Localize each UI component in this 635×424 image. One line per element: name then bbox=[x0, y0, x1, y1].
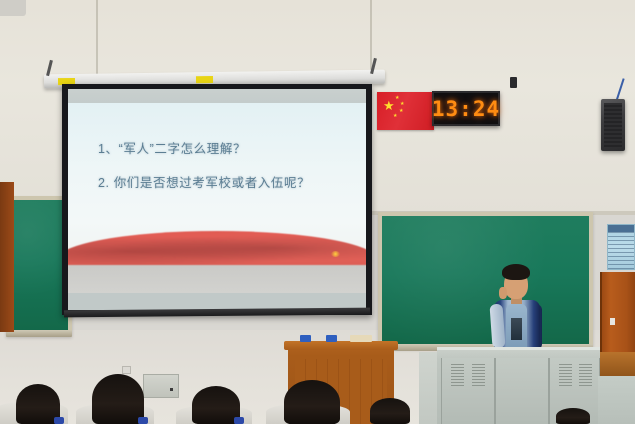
cabinet-vent bbox=[579, 364, 592, 386]
notice-board-header bbox=[608, 225, 634, 232]
wall-sensor-icon bbox=[510, 77, 517, 88]
flag-small-star: ★ bbox=[393, 114, 397, 119]
student-head bbox=[92, 374, 144, 424]
student-head bbox=[370, 398, 410, 424]
flag-small-star: ★ bbox=[399, 109, 403, 114]
slide-question-1: 1、“军人”二字怎么理解？ bbox=[98, 141, 246, 158]
slide-red-ribbon-graphic bbox=[68, 231, 366, 265]
cabinet-door[interactable] bbox=[441, 358, 495, 424]
cabinet-door[interactable] bbox=[495, 358, 549, 424]
notice-board-text-lines bbox=[608, 232, 634, 270]
wall-outlet bbox=[122, 366, 131, 374]
cabinet-vent bbox=[472, 364, 485, 386]
presenter-shirt-graphic bbox=[511, 318, 522, 340]
ceiling-fixture bbox=[0, 0, 26, 16]
presenter-hair bbox=[502, 264, 530, 280]
student-collar bbox=[138, 417, 148, 424]
access-panel bbox=[143, 374, 179, 398]
housing-label-sticker bbox=[196, 76, 213, 83]
cabinet-side-right bbox=[598, 376, 635, 424]
side-desk bbox=[596, 352, 635, 378]
chalkboard-surface bbox=[10, 200, 68, 332]
student-head bbox=[192, 386, 240, 424]
projection-screen[interactable]: 1、“军人”二字怎么理解？ 2. 你们是否想过考军校或者入伍呢？ bbox=[62, 84, 372, 315]
door-frame-left bbox=[0, 182, 14, 332]
access-panel-lock-icon bbox=[170, 388, 173, 391]
lectern-top bbox=[284, 341, 398, 350]
student-head bbox=[284, 380, 340, 424]
chinese-flag: ★ ★ ★ ★ ★ bbox=[377, 92, 434, 130]
student-collar bbox=[54, 417, 64, 424]
cabinet-vent bbox=[559, 364, 572, 386]
slide-accent-glow bbox=[331, 251, 340, 257]
door-handle-icon[interactable] bbox=[610, 318, 615, 325]
cabinet-side-left bbox=[419, 352, 439, 424]
slide-question-2: 2. 你们是否想过考军校或者入伍呢？ bbox=[98, 175, 348, 192]
student-collar bbox=[234, 417, 244, 424]
wall-speaker bbox=[601, 99, 625, 151]
chalk-tray-left bbox=[6, 330, 72, 337]
slide-footer-band bbox=[68, 263, 366, 293]
lectern-item bbox=[300, 335, 311, 342]
flag-small-star: ★ bbox=[395, 96, 399, 101]
digital-clock: 13:24 bbox=[432, 91, 500, 126]
screen-weight-bar bbox=[64, 308, 370, 318]
classroom-scene: 1、“军人”二字怎么理解？ 2. 你们是否想过考军校或者入伍呢？ ★ ★ ★ ★… bbox=[0, 0, 635, 424]
screen-surface: 1、“军人”二字怎么理解？ 2. 你们是否想过考军校或者入伍呢？ bbox=[68, 89, 366, 310]
student-head bbox=[556, 408, 590, 424]
clock-time-display: 13:24 bbox=[432, 97, 500, 121]
flag-large-star: ★ bbox=[383, 99, 395, 112]
speaker-grille bbox=[604, 103, 622, 147]
projected-slide: 1、“军人”二字怎么理解？ 2. 你们是否想过考军校或者入伍呢？ bbox=[68, 103, 366, 293]
lectern-item bbox=[326, 335, 337, 342]
notice-board bbox=[607, 224, 635, 270]
presenter-hand bbox=[499, 287, 507, 299]
cabinet-vent bbox=[451, 364, 464, 386]
presenter bbox=[482, 262, 554, 350]
lectern-item bbox=[350, 335, 372, 342]
flag-small-star: ★ bbox=[400, 102, 404, 107]
